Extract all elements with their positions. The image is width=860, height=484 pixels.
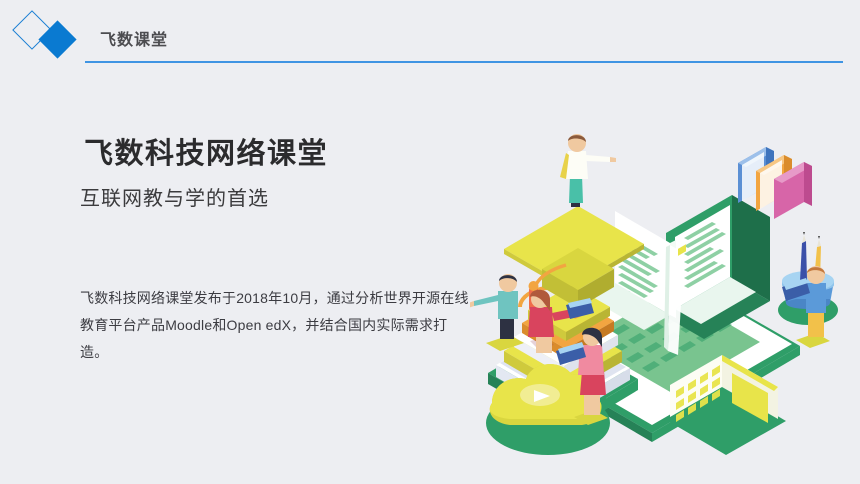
slide-root: 飞数课堂 飞数科技网络课堂 互联网教与学的首选 飞数科技网络课堂发布于2018年… (0, 0, 860, 484)
hero-illustration (470, 55, 860, 455)
page-subtitle: 互联网教与学的首选 (80, 182, 269, 211)
body-paragraph: 飞数科技网络课堂发布于2018年10月，通过分析世界开源在线教育平台产品Mood… (80, 285, 472, 366)
brand-logo (14, 12, 86, 66)
person-pointing-left (470, 274, 524, 351)
page-title: 飞数科技网络课堂 (84, 130, 328, 172)
header-brand-title: 飞数课堂 (100, 26, 168, 50)
text-column: 飞数科技网络课堂 互联网教与学的首选 飞数科技网络课堂发布于2018年10月，通… (0, 100, 470, 430)
person-on-cap (560, 134, 616, 212)
